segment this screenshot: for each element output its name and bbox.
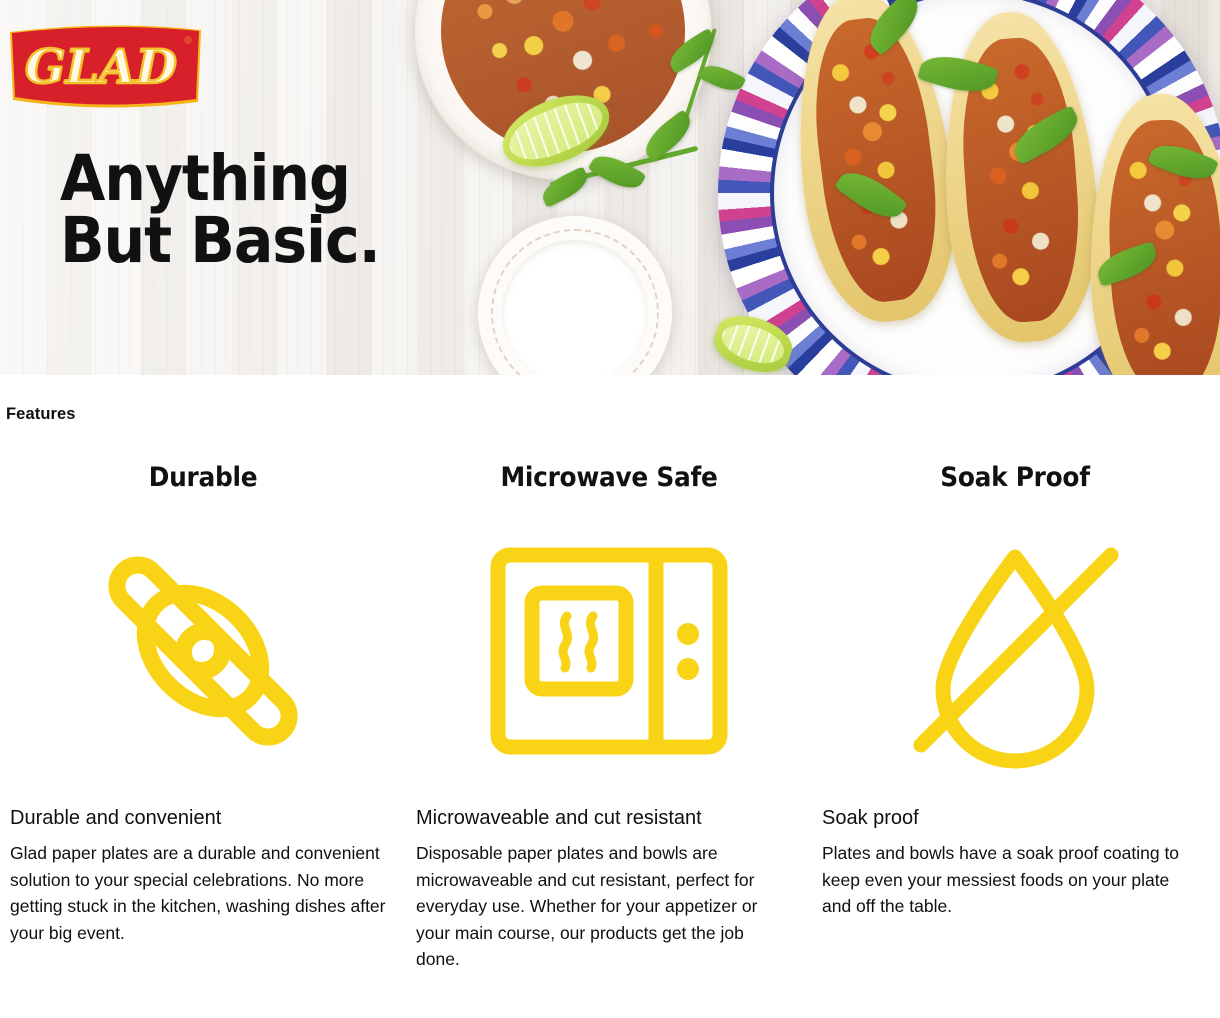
feature-heading-durable: Durable (22, 460, 384, 496)
no-water-droplet-icon (818, 496, 1212, 796)
feature-column-durable: Durable Durable and convenient Glad pape… (0, 460, 406, 973)
microwave-icon (412, 496, 806, 796)
features-section-label: Features (6, 405, 76, 424)
feature-subtitle-durable: Durable and convenient (6, 806, 400, 831)
feature-body-microwave-safe: Disposable paper plates and bowls are mi… (412, 840, 782, 973)
features-columns: Durable Durable and convenient Glad pape… (0, 460, 1220, 973)
feature-column-microwave-safe: Microwave Safe (406, 460, 812, 973)
feature-column-soak-proof: Soak Proof Soak proof Plates and bowls h… (812, 460, 1218, 973)
feature-subtitle-microwave-safe: Microwaveable and cut resistant (412, 806, 806, 831)
feature-body-durable: Glad paper plates are a durable and conv… (6, 840, 388, 946)
steam-lines (563, 616, 594, 668)
glad-logo-wordmark: GLAD (25, 40, 177, 95)
feature-heading-microwave-safe: Microwave Safe (428, 460, 790, 496)
microwave-knob (677, 658, 699, 680)
white-plate (477, 215, 673, 375)
microwave-knob (677, 623, 699, 645)
feature-body-soak-proof: Plates and bowls have a soak proof coati… (818, 840, 1186, 920)
product-feature-page: GLAD Anything But Basic. Features Durabl… (0, 0, 1220, 1018)
hero-banner: GLAD Anything But Basic. (0, 0, 1220, 375)
glad-logo: GLAD (8, 18, 206, 116)
hero-headline: Anything But Basic. (60, 148, 380, 271)
chain-link-icon (6, 496, 400, 796)
registered-mark (184, 36, 192, 44)
feature-heading-soak-proof: Soak Proof (834, 460, 1196, 496)
feature-subtitle-soak-proof: Soak proof (818, 806, 1212, 831)
